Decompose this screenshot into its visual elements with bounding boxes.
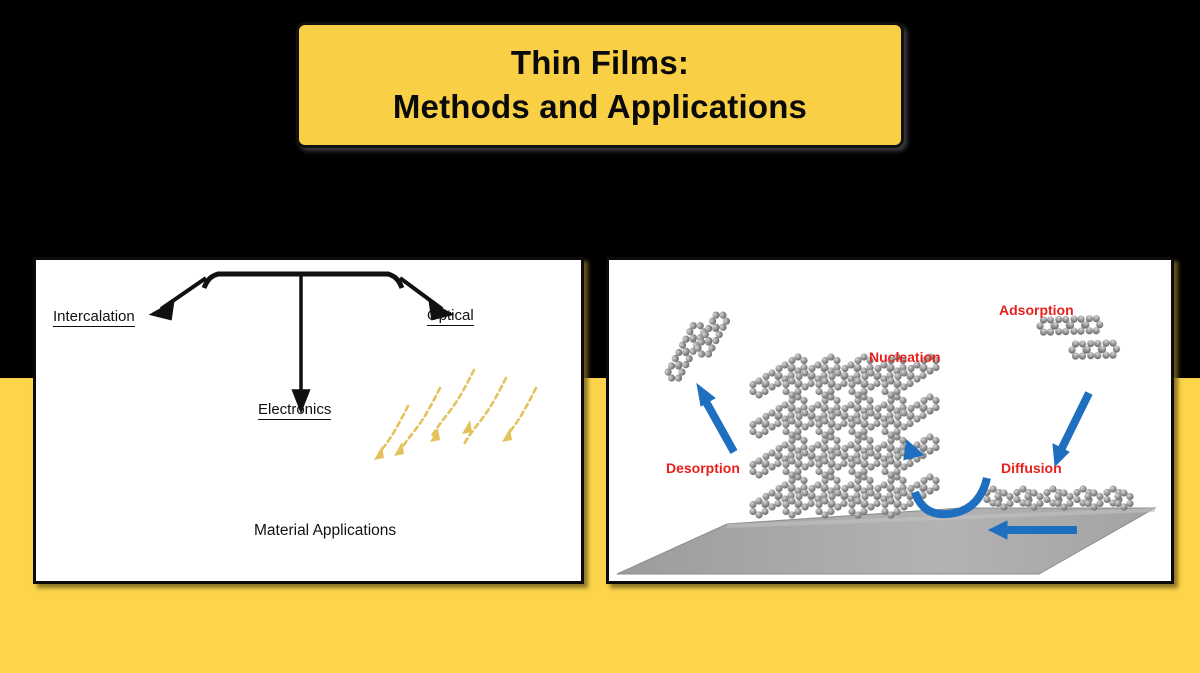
branch-label-electronics: Electronics (258, 401, 331, 420)
title-banner: Thin Films: Methods and Applications (296, 22, 904, 148)
label-nucleation: Nucleation (869, 349, 941, 365)
adsorption-arrow (1053, 393, 1089, 466)
label-adsorption: Adsorption (999, 302, 1074, 318)
material-applications-diagram: Material Applications Intercalatio (36, 260, 581, 581)
branch-label-optical: Optical (427, 307, 474, 326)
thin-film-growth-diagram: Adsorption Nucleation Desorption Diffusi… (609, 260, 1171, 581)
nucleated-film (749, 353, 939, 518)
branch-label-intercalation: Intercalation (53, 308, 135, 327)
material-applications-label: Material Applications (254, 522, 396, 540)
desorption-arrow (697, 384, 734, 452)
label-desorption: Desorption (666, 460, 740, 476)
label-diffusion: Diffusion (1001, 460, 1062, 476)
diffusing-molecules (983, 485, 1133, 510)
right-figure-panel: Adsorption Nucleation Desorption Diffusi… (606, 257, 1174, 584)
substrate-plane (617, 508, 1155, 574)
title-line-1: Thin Films: (511, 41, 689, 85)
left-figure-panel: Material Applications Intercalatio (33, 257, 584, 584)
title-line-2: Methods and Applications (393, 85, 807, 129)
growth-process-illustration (609, 260, 1171, 581)
